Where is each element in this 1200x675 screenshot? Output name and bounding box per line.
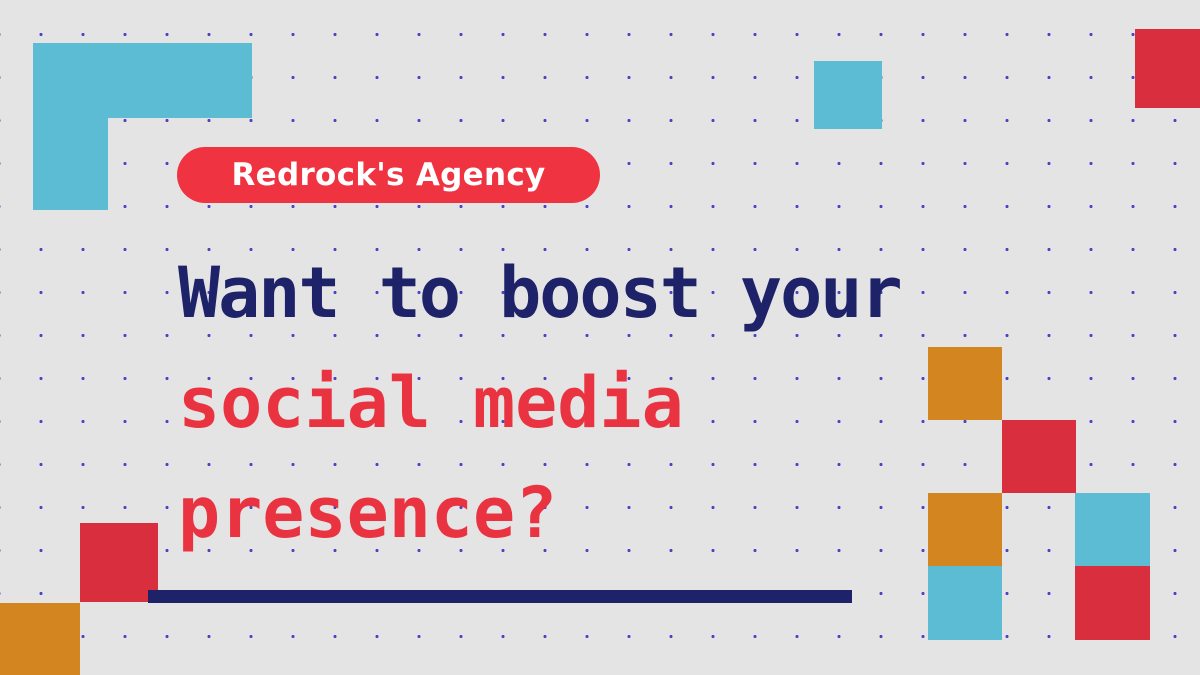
square-red-topright-decoration <box>1135 29 1200 108</box>
headline-line-2: social media <box>178 348 1078 458</box>
poster-canvas: Redrock's Agency Want to boost your soci… <box>0 0 1200 675</box>
square-red-right-decoration <box>1075 566 1150 640</box>
agency-badge[interactable]: Redrock's Agency <box>177 147 600 203</box>
square-cyan-lower-decoration <box>928 566 1002 640</box>
square-orange-bottomleft-decoration <box>0 603 80 675</box>
headline-block: Want to boost your social media presence… <box>178 238 1078 568</box>
square-red-bottomleft-decoration <box>80 523 158 602</box>
square-cyan-top-decoration <box>814 61 882 129</box>
headline-line-1: Want to boost your <box>178 238 1078 348</box>
agency-badge-label: Redrock's Agency <box>231 157 545 193</box>
headline-underline-bar <box>148 590 852 603</box>
l-shape-horizontal-arm <box>33 43 252 118</box>
l-shape-vertical-arm <box>33 117 108 210</box>
square-cyan-right-decoration <box>1075 493 1150 566</box>
headline-line-3: presence? <box>178 458 1078 568</box>
